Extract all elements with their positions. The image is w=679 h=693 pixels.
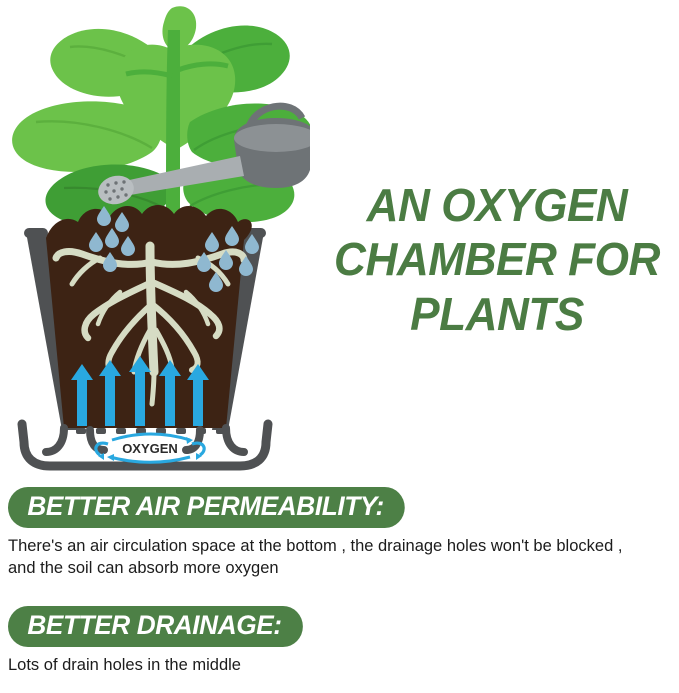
plant-pot-illustration: OXYGEN [0, 0, 310, 478]
benefit-pill-drainage: BETTER DRAINAGE: [8, 606, 303, 647]
benefit-air-permeability: BETTER AIR PERMEABILITY: There's an air … [0, 487, 679, 580]
headline-line-1: AN OXYGEN [325, 178, 669, 232]
product-infographic-page: OXYGEN [0, 0, 679, 693]
headline-line-2: CHAMBER FOR [325, 232, 669, 286]
headline: AN OXYGEN CHAMBER FOR PLANTS [325, 178, 669, 341]
benefit-body-drainage: Lots of drain holes in the middle [8, 655, 670, 677]
benefit-drainage: BETTER DRAINAGE: Lots of drain holes in … [0, 606, 679, 677]
benefit-pill-air-permeability: BETTER AIR PERMEABILITY: [8, 487, 405, 528]
headline-line-3: PLANTS [325, 287, 669, 341]
benefit-body-air-permeability: There's an air circulation space at the … [8, 536, 670, 580]
oxygen-label: OXYGEN [122, 441, 178, 456]
benefits-section: BETTER AIR PERMEABILITY: There's an air … [0, 487, 679, 677]
